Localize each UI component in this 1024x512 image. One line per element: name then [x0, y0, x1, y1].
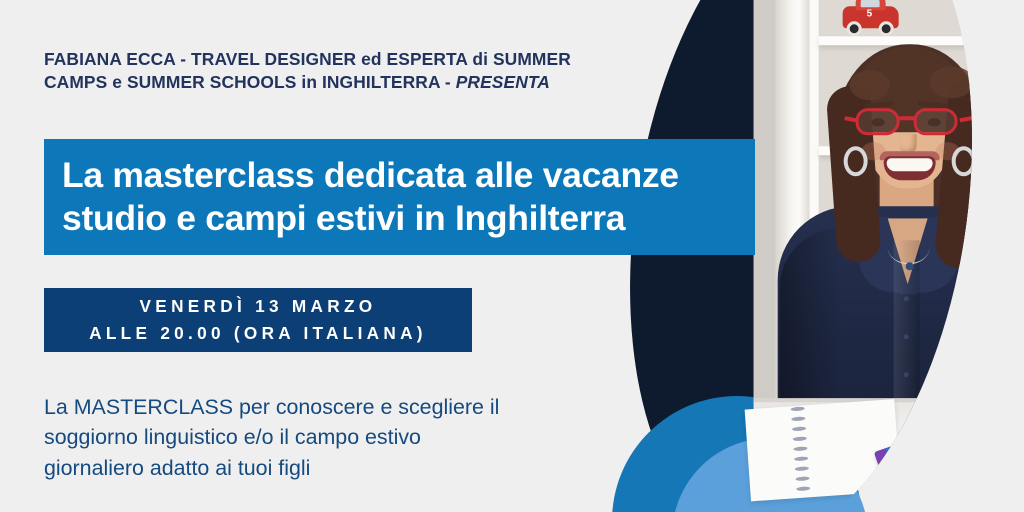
- kicker-presenta: PRESENTA: [456, 72, 550, 92]
- headline-text: La masterclass dedicata alle vacanze stu…: [44, 154, 697, 239]
- kicker-line-1: FABIANA ECCA - TRAVEL DESIGNER ed ESPERT…: [44, 49, 571, 69]
- body-copy: La MASTERCLASS per conoscere e scegliere…: [44, 392, 604, 483]
- necklace: [888, 230, 930, 264]
- body-line-1: La MASTERCLASS per conoscere e scegliere…: [44, 395, 499, 419]
- kicker-text: FABIANA ECCA - TRAVEL DESIGNER ed ESPERT…: [44, 48, 624, 94]
- headline-line-2: studio e campi estivi in Inghilterra: [62, 198, 625, 238]
- headline-banner: La masterclass dedicata alle vacanze stu…: [44, 139, 755, 255]
- date-line-2: ALLE 20.00 (ORA ITALIANA): [89, 320, 427, 347]
- body-line-3: giornaliero adatto ai tuoi figli: [44, 456, 310, 480]
- smiling-mouth: [884, 156, 936, 180]
- notebook-spiral: [790, 402, 811, 499]
- necklace-pendant: [906, 262, 914, 270]
- hoop-earring-right: [952, 146, 976, 176]
- promo-banner: 5: [0, 0, 1024, 512]
- body-line-2: soggiorno linguistico e/o il campo estiv…: [44, 425, 421, 449]
- hoop-earring-left: [844, 146, 868, 176]
- red-eyeglasses: [856, 108, 962, 136]
- kicker-line-2-prefix: CAMPS e SUMMER SCHOOLS in INGHILTERRA -: [44, 72, 456, 92]
- headline-line-1: La masterclass dedicata alle vacanze: [62, 155, 679, 195]
- date-line-1: VENERDÌ 13 MARZO: [140, 293, 377, 320]
- date-banner: VENERDÌ 13 MARZO ALLE 20.00 (ORA ITALIAN…: [44, 288, 472, 352]
